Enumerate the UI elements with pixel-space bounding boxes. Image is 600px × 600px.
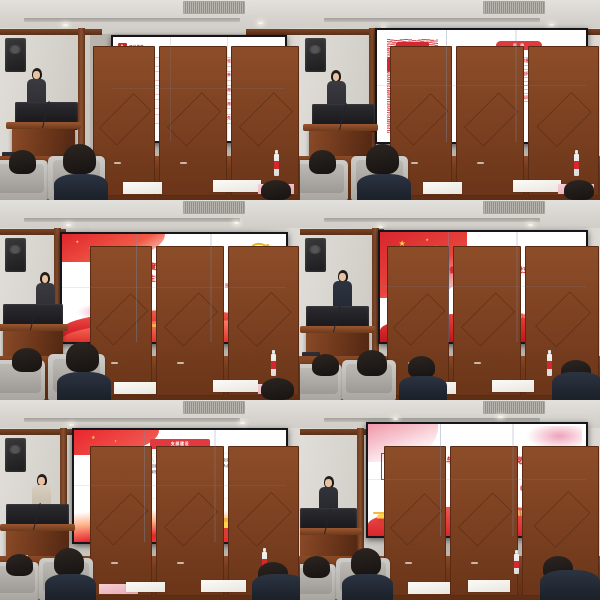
panel-middle-left: ★ ★ ★ ★ 2021年度交通运输与物流工程 学生党支部工作述职	[0, 200, 300, 400]
downlight-icon	[240, 422, 245, 424]
audience-shoulders	[45, 574, 96, 600]
presenter-face	[42, 275, 49, 283]
panel-bottom-left: ★ ★ 支部建设 2021年，在学院党委的正确领导下，交通设备与控制工程第二学生…	[0, 400, 300, 600]
audience-head	[357, 350, 387, 376]
panel-top-right: 目 录 01 思想建设 02 组织建设 03 “三个一”特	[300, 0, 600, 200]
ceiling-vent-icon	[483, 1, 545, 14]
presenter-face	[38, 477, 45, 485]
document-paper	[492, 380, 534, 392]
desk-panel	[384, 446, 446, 596]
document-paper	[468, 580, 510, 592]
ceiling-vent-icon	[483, 201, 545, 214]
downlight-icon	[498, 416, 503, 418]
audience-shoulders	[357, 174, 411, 200]
drawer-handle	[114, 162, 121, 164]
drawer-handle	[411, 162, 418, 164]
downlight-icon	[69, 424, 74, 426]
desk-panel	[453, 246, 521, 396]
panel-middle-right: ★ ★ ★ ★ ★ 交通设备与控制工程第一学生党支部 2021年工作汇报 汇报人…	[300, 200, 600, 400]
star-icon: ★	[114, 440, 117, 443]
downlight-icon	[234, 222, 239, 224]
drawer-handle	[474, 362, 481, 364]
presenter-face	[325, 479, 332, 487]
document-paper	[423, 182, 462, 194]
presenter-face	[33, 71, 40, 79]
audience-head	[261, 180, 291, 200]
document-paper	[513, 180, 561, 192]
photo-collage: 建设思路 强规范，加强党支部标准化建设 讲政治，不断提升政治理论素养	[0, 0, 600, 600]
document-paper	[123, 182, 162, 194]
audience-head	[312, 354, 339, 376]
document-paper	[408, 582, 450, 594]
water-bottle	[574, 154, 579, 176]
downlight-icon	[258, 22, 263, 24]
ceiling-vent-icon	[183, 1, 245, 14]
ceiling-vent-icon	[183, 201, 245, 214]
audience-head	[12, 348, 42, 372]
audience-head	[303, 556, 330, 578]
presenter-face	[339, 273, 346, 281]
water-bottle	[514, 554, 519, 574]
ceiling-light-strip	[24, 218, 240, 222]
panel-top-left: 建设思路 强规范，加强党支部标准化建设 讲政治，不断提升政治理论素养	[0, 0, 300, 200]
star-icon: ★	[91, 436, 95, 441]
document-paper	[201, 580, 246, 592]
desk-panel	[231, 46, 299, 196]
downlight-icon	[528, 224, 533, 226]
drawer-handle	[177, 562, 184, 564]
drawer-handle	[111, 562, 118, 564]
ceiling-light-strip	[324, 218, 540, 222]
audience-shoulders	[399, 376, 447, 400]
audience-head	[54, 548, 84, 576]
audience-shoulders	[552, 372, 600, 400]
ceiling-light-strip	[24, 418, 240, 422]
audience-head	[261, 378, 294, 400]
desk-panel	[90, 446, 152, 596]
ceiling-vent-icon	[483, 401, 545, 414]
document-paper	[126, 582, 165, 592]
wall-speaker-icon	[305, 38, 326, 72]
presenter-face	[333, 73, 340, 81]
desk-panel	[528, 46, 599, 196]
water-bottle	[274, 154, 279, 176]
desk-panel	[156, 246, 224, 396]
water-bottle	[547, 354, 552, 376]
audience-head	[66, 342, 99, 372]
downlight-icon	[549, 24, 554, 26]
audience-shoulders	[540, 570, 600, 600]
star-icon: ★	[425, 238, 429, 242]
downlight-icon	[66, 224, 71, 226]
audience-head	[309, 150, 336, 174]
water-bottle	[271, 354, 276, 376]
ceiling-light-strip	[24, 18, 240, 22]
wall-speaker-icon	[5, 38, 26, 72]
drawer-handle	[471, 562, 478, 564]
drawer-handle	[111, 362, 118, 364]
drawer-handle	[180, 162, 187, 164]
audience-shoulders	[252, 574, 300, 600]
document-paper	[114, 382, 156, 394]
drawer-handle	[177, 362, 184, 364]
downlight-icon	[63, 24, 68, 26]
downlight-icon	[393, 418, 398, 420]
audience-head	[366, 144, 399, 174]
ceiling-vent-icon	[183, 401, 245, 414]
audience-head	[9, 150, 36, 174]
audience-shoulders	[57, 372, 111, 400]
audience-head	[408, 356, 435, 378]
audience-head	[351, 548, 381, 576]
audience-head	[6, 554, 33, 576]
desk-panel	[450, 446, 518, 596]
wall-speaker-icon	[5, 238, 26, 272]
desk-panel	[456, 46, 524, 196]
desk-panel	[156, 446, 224, 596]
audience-head	[564, 180, 594, 200]
ceiling-light-strip	[324, 18, 540, 22]
drawer-handle	[405, 562, 412, 564]
document-paper	[213, 180, 261, 192]
star-icon: ★	[75, 240, 79, 244]
audience-head	[63, 144, 96, 174]
drawer-handle	[477, 162, 484, 164]
wall-speaker-icon	[305, 238, 326, 272]
desk-panel	[159, 46, 227, 196]
desk-panel	[228, 246, 299, 396]
audience-shoulders	[54, 174, 108, 200]
audience-shoulders	[342, 574, 393, 600]
panel-bottom-right: ★ ★ ★ 交通设备与控制工程第三学生党支部 2021年述职汇报 汇报人：王羽田	[300, 400, 600, 600]
document-paper	[213, 380, 258, 392]
wood-wall-trim	[0, 29, 102, 35]
wall-speaker-icon	[5, 438, 26, 472]
